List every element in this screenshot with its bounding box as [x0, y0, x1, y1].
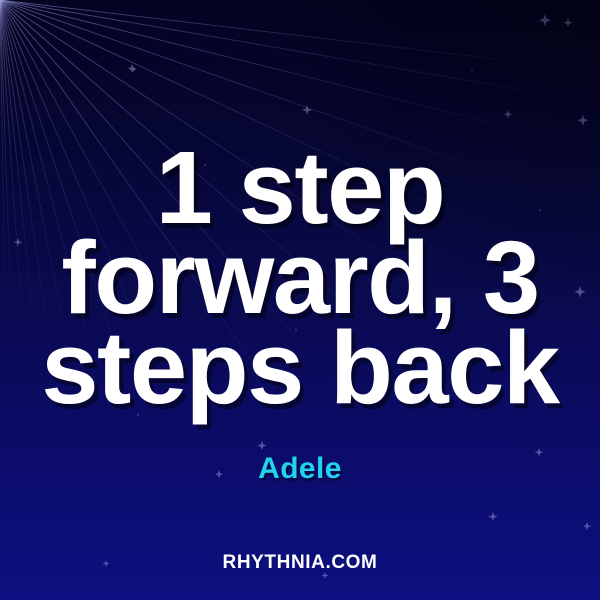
lyric-text: 1 step forward, 3 steps back — [0, 143, 600, 413]
star-sparkles-decoration — [0, 0, 600, 600]
ray-burst-decoration — [0, 0, 600, 600]
lyric-card: 1 step forward, 3 steps back Adele RHYTH… — [0, 0, 600, 600]
vignette-overlay — [0, 0, 600, 600]
artist-name: Adele — [0, 452, 600, 486]
site-watermark: RHYTHNIA.COM — [0, 552, 600, 574]
card-content: 1 step forward, 3 steps back Adele RHYTH… — [0, 0, 600, 600]
